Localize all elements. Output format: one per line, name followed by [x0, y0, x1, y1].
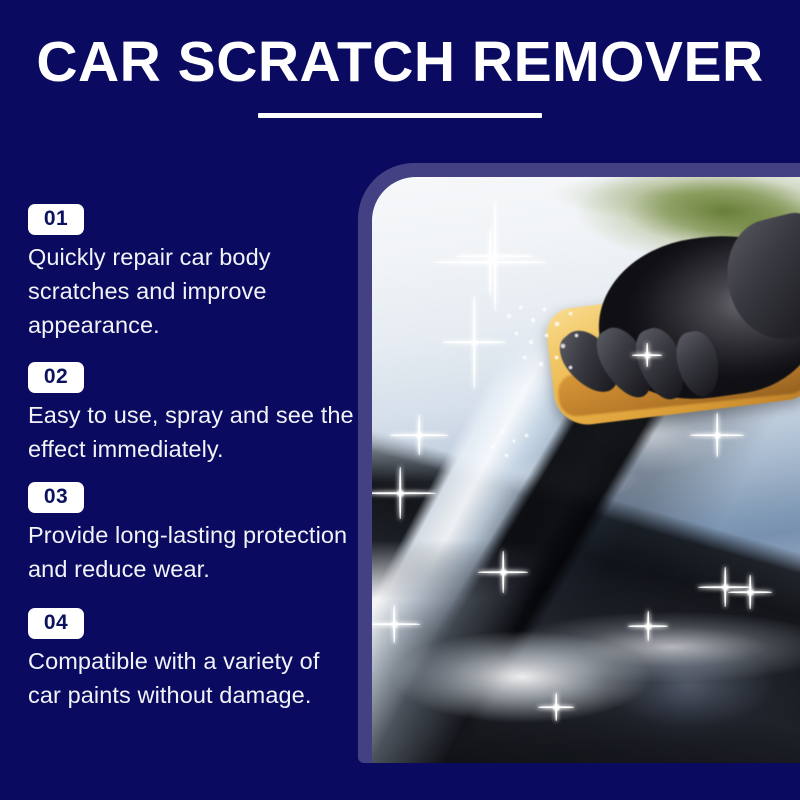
- sparkle-dot: [490, 445, 494, 449]
- sparkle-dot: [512, 439, 516, 443]
- feature-description: Easy to use, spray and see the effect im…: [28, 398, 358, 466]
- sparkle-dot: [518, 305, 523, 310]
- feature-item-01: 01 Quickly repair car body scratches and…: [28, 204, 358, 342]
- sparkle-dot: [514, 331, 519, 336]
- sparkle-icon: [456, 201, 534, 311]
- feature-number-badge: 04: [28, 608, 84, 639]
- sparkle-icon: [390, 415, 448, 455]
- header: CAR SCRATCH REMOVER: [0, 0, 800, 150]
- feature-number-badge: 02: [28, 362, 84, 393]
- sparkle-dot: [528, 339, 534, 345]
- sparkle-icon: [698, 567, 752, 607]
- feature-description: Compatible with a variety of car paints …: [28, 644, 358, 712]
- poster-root: CAR SCRATCH REMOVER 01 Quickly repair ca…: [0, 0, 800, 800]
- feature-description: Provide long-lasting protection and redu…: [28, 518, 358, 586]
- feature-list: 01 Quickly repair car body scratches and…: [0, 160, 360, 760]
- sparkle-dot: [522, 355, 527, 360]
- sparkle-icon: [372, 467, 436, 519]
- product-photo-panel: [358, 163, 800, 763]
- feature-number-badge: 01: [28, 204, 84, 235]
- page-title: CAR SCRATCH REMOVER: [0, 28, 800, 96]
- sparkle-dot: [500, 429, 505, 434]
- sparkle-icon: [728, 575, 772, 609]
- sparkle-icon: [628, 611, 668, 641]
- sparkle-dot: [538, 361, 544, 367]
- feature-description: Quickly repair car body scratches and im…: [28, 240, 358, 342]
- sparkle-dot: [530, 317, 536, 323]
- sparkle-dot: [506, 313, 512, 319]
- sparkle-icon: [434, 229, 546, 295]
- sparkle-dot: [504, 453, 509, 458]
- sparkle-dot: [542, 307, 547, 312]
- feature-number-badge: 03: [28, 482, 84, 513]
- sparkle-icon: [690, 413, 744, 457]
- title-underline-divider: [258, 113, 542, 118]
- feature-item-03: 03 Provide long-lasting protection and r…: [28, 482, 358, 586]
- feature-item-04: 04 Compatible with a variety of car pain…: [28, 608, 358, 712]
- product-photo: [372, 177, 800, 763]
- feature-item-02: 02 Easy to use, spray and see the effect…: [28, 362, 358, 466]
- sparkle-icon: [538, 693, 574, 721]
- sparkle-icon: [478, 551, 528, 593]
- sparkle-icon: [442, 295, 506, 389]
- sparkle-dot: [524, 433, 529, 438]
- sparkle-icon: [372, 605, 420, 643]
